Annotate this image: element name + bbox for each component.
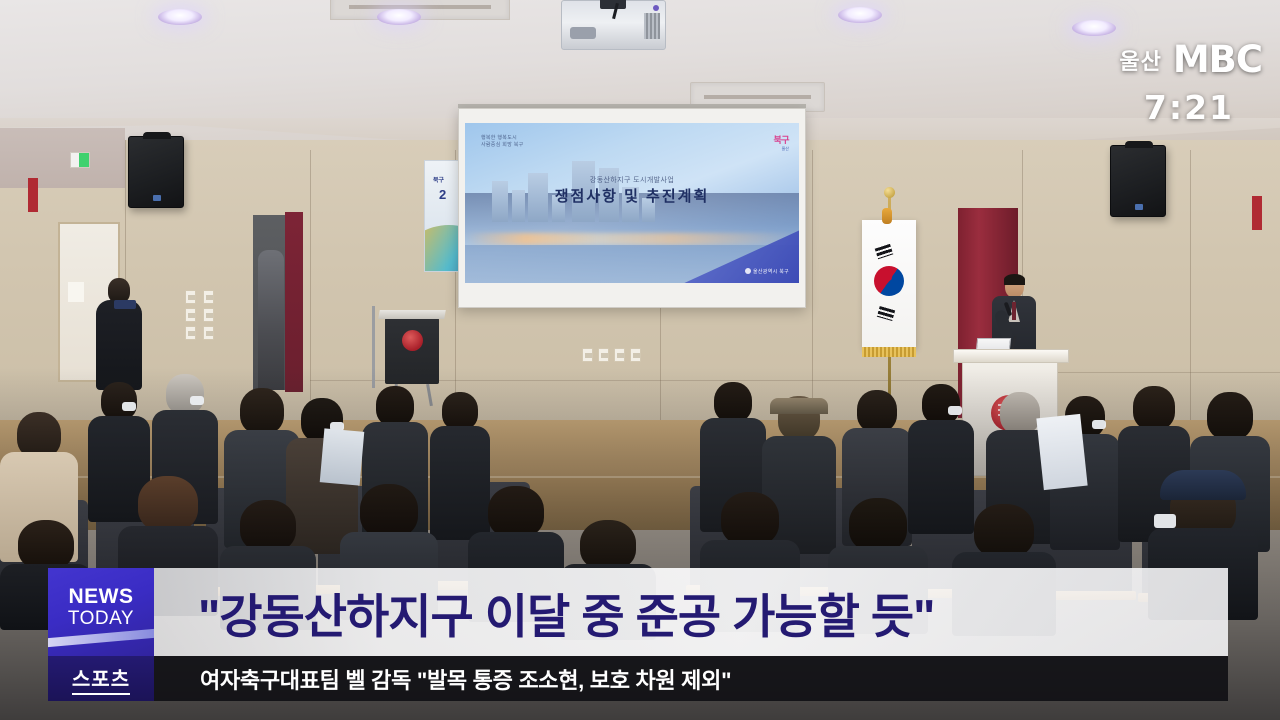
slide-footer-icon — [745, 268, 751, 274]
projection-screen: 행복한 행복도시 사람중심 희망 북구 강동산하지구 도시개발사업 쟁점사항 및… — [458, 108, 806, 308]
slide-footer: 울산광역시 북구 — [745, 268, 789, 275]
broadcast-frame: 북구 2 행복한 행복도시 사람중심 희망 북구 강동산하지구 도시개발사업 — [0, 0, 1280, 720]
korean-flag — [862, 220, 916, 348]
poster-title: 북구 — [433, 175, 444, 184]
network-region-label: 울산 — [1119, 44, 1161, 76]
fire-alarm-strip — [1252, 196, 1262, 230]
ceiling-light — [838, 7, 882, 23]
category-label: 스포츠 — [72, 663, 130, 695]
cap — [770, 398, 828, 414]
ceiling-light — [1072, 20, 1116, 36]
program-title-line2: TODAY — [48, 608, 154, 630]
ceiling-light — [377, 9, 421, 25]
slide-brand-sub: 울산 — [773, 146, 789, 152]
slide-motto: 행복한 행복도시 사람중심 희망 북구 — [481, 135, 524, 149]
left-wall-panel — [0, 128, 125, 188]
doorway-red-trim — [285, 212, 303, 392]
ceiling-light — [158, 9, 202, 25]
baseball-cap — [1160, 470, 1246, 500]
program-logo-box: NEWS TODAY — [48, 568, 154, 656]
ceiling-projector — [561, 0, 666, 50]
presentation-slide: 행복한 행복도시 사람중심 희망 북구 강동산하지구 도시개발사업 쟁점사항 및… — [465, 123, 799, 283]
program-title-line1: NEWS — [48, 585, 154, 609]
slide-brand-mark: 북구 — [773, 133, 789, 146]
slide-brand-logo: 북구 울산 — [773, 133, 789, 152]
poster-number: 2 — [439, 187, 446, 202]
network-logo: 울산 MBC — [1119, 38, 1262, 81]
mbc-logo: MBC — [1173, 38, 1262, 81]
emergency-exit-light — [70, 152, 90, 168]
wall-speaker — [128, 136, 184, 208]
category-box: 스포츠 — [48, 656, 154, 701]
document-folder — [320, 428, 365, 485]
lower-third-graphic: NEWS TODAY 스포츠 "강동산하지구 이달 중 준공 가능할 듯" 여자… — [48, 568, 1228, 701]
on-air-clock: 7:21 — [1144, 88, 1234, 127]
ticker-text: 여자축구대표팀 벨 감독 "발목 통증 조소현, 보호 차원 제외" — [200, 663, 731, 695]
headline-bar: "강동산하지구 이달 중 준공 가능할 듯" — [154, 568, 1228, 656]
slide-subtitle: 강동산하지구 도시개발사업 — [465, 175, 799, 185]
fire-alarm-strip — [28, 178, 38, 212]
document-folder — [1036, 414, 1087, 490]
news-ticker-bar: 여자축구대표팀 벨 감독 "발목 통증 조소현, 보호 차원 제외" — [154, 656, 1228, 701]
slide-title: 쟁점사항 및 추진계획 — [465, 185, 799, 206]
headline-text: "강동산하지구 이달 중 준공 가능할 듯" — [198, 578, 934, 647]
smartphone — [114, 300, 136, 309]
wall-speaker — [1110, 145, 1166, 217]
